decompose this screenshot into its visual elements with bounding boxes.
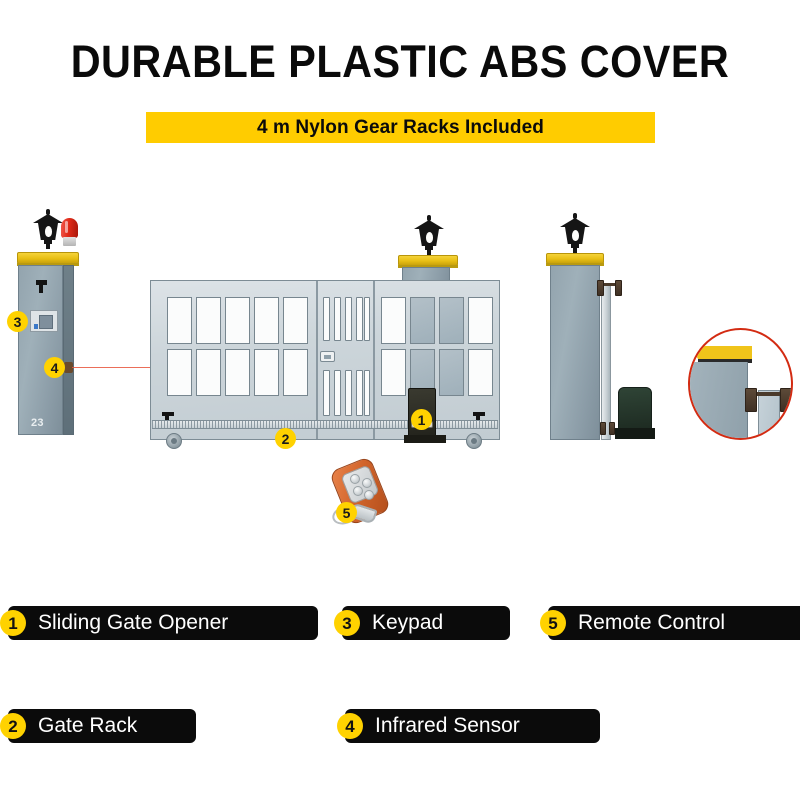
gate-window [381,297,406,344]
remote-button [350,474,360,484]
gate-window [468,349,493,396]
door-edge-left [316,281,318,439]
remote-button [364,490,374,500]
gate-window [439,349,464,396]
gate-wheel-icon [466,433,482,449]
roller-bracket-icon [780,388,792,412]
legend-label-3: Keypad [372,611,443,635]
detail-callout-circle [688,328,793,440]
product-illustration: 23 3 4 [0,150,800,580]
pillar-fixture-stem [39,284,43,293]
legend-item-sliding-gate-opener[interactable]: 1 Sliding Gate Opener [8,606,318,640]
door-handle-icon[interactable] [320,351,335,362]
subtitle-text: 4 m Nylon Gear Racks Included [257,117,544,139]
detail-pillar-body [690,362,748,440]
pillar-code-label: 23 [31,417,44,429]
roller-bracket-icon [745,388,757,412]
door-slat [334,297,341,341]
door-slat [356,297,363,341]
door-slat [323,370,330,416]
door-slat [345,370,352,416]
pillar-side-face [63,265,74,435]
callout-badge-2: 2 [275,428,296,449]
roller-bracket-icon [615,280,622,296]
gate-window [167,349,192,396]
legend-item-infrared-sensor[interactable]: 4 Infrared Sensor [345,709,600,743]
gate-wheel-icon [166,433,182,449]
door-slat [364,370,370,416]
keypad-led [34,324,38,329]
callout-badge-1: 1 [411,409,432,430]
gate-window [283,297,308,344]
keypad-icon[interactable] [30,310,58,332]
keypad-screen [39,315,53,329]
remote-control-keyfob-icon [326,462,396,532]
roller-bracket-icon [600,422,606,435]
roller-bracket-icon [597,280,604,296]
callout-badge-4: 4 [44,357,65,378]
door-slat [345,297,352,341]
callout-badge-3: 3 [7,311,28,332]
legend-badge-4: 4 [337,713,363,739]
legend-label-1: Sliding Gate Opener [38,611,228,635]
gate-window [167,297,192,344]
door-slat [323,297,330,341]
legend-item-keypad[interactable]: 3 Keypad [342,606,510,640]
motor-unit-icon [618,387,652,432]
guide-rail-icon [601,283,611,440]
door-slat [356,370,363,416]
legend-item-gate-rack[interactable]: 2 Gate Rack [8,709,196,743]
remote-button [362,478,372,488]
legend-badge-1: 1 [0,610,26,636]
legend-label-5: Remote Control [578,611,725,635]
opener-base [404,435,446,443]
gate-window [196,297,221,344]
gate-window [468,297,493,344]
motor-foot [615,428,655,439]
legend-item-remote-control[interactable]: 5 Remote Control [548,606,800,640]
page-title: DURABLE PLASTIC ABS COVER [32,38,768,86]
legend-badge-3: 3 [334,610,360,636]
legend-badge-2: 2 [0,713,26,739]
gate-window [196,349,221,396]
subtitle-banner: 4 m Nylon Gear Racks Included [146,112,655,143]
pillar-body [550,265,600,440]
remote-button [353,486,363,496]
gate-window [254,349,279,396]
legend-label-4: Infrared Sensor [375,714,520,738]
detail-gate-edge [758,390,780,440]
gate-window [381,349,406,396]
door-slat [364,297,370,341]
legend-label-2: Gate Rack [38,714,137,738]
gate-window [283,349,308,396]
door-slat [334,370,341,416]
detail-pillar-cap [690,346,752,360]
callout-badge-5: 5 [336,502,357,523]
gate-window [439,297,464,344]
gate-window [225,349,250,396]
gate-window [410,297,435,344]
door-edge-right [373,281,375,439]
legend-badge-5: 5 [540,610,566,636]
gate-window [225,297,250,344]
gate-window [254,297,279,344]
gear-rack-icon [152,420,498,429]
